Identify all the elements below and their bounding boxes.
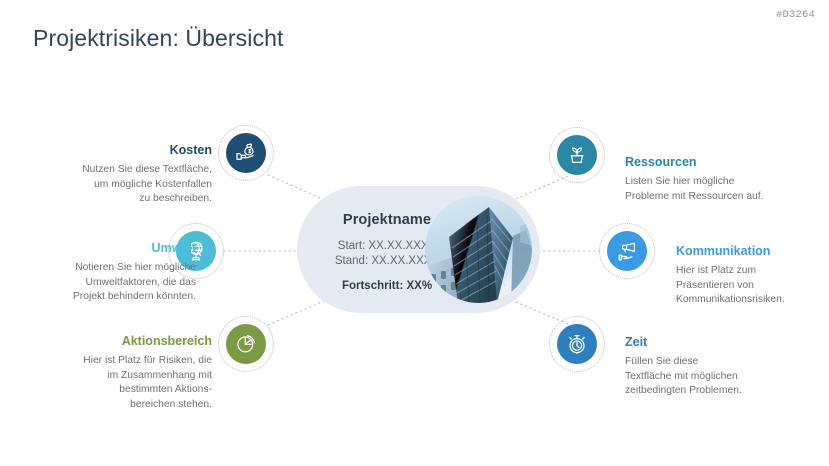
block-title-aktionsbereich: Aktionsbereich [62, 333, 212, 349]
node-kommunikation[interactable] [599, 223, 655, 279]
node-ressourcen[interactable] [549, 127, 605, 183]
stopwatch-icon [557, 324, 597, 364]
block-title-umwelt: Umwelt [20, 240, 196, 256]
block-title-kommunikation: Kommunikation [676, 243, 829, 259]
megaphone-in-hand-icon [607, 231, 647, 271]
money-bag-in-hand-icon [226, 133, 266, 173]
block-body-umwelt: Notieren Sie hier mögliche Umweltfaktore… [20, 261, 196, 305]
block-ressourcen: Ressourcen Listen Sie hier mögliche Prob… [625, 154, 815, 204]
node-aktionsbereich[interactable] [218, 316, 274, 372]
slide-canvas: Projektrisiken: Übersicht #D3264 Projekt… [0, 0, 829, 466]
block-title-ressourcen: Ressourcen [625, 154, 815, 170]
block-body-kommunikation: Hier ist Platz zum Präsentieren von Komm… [676, 264, 829, 308]
block-body-aktionsbereich: Hier ist Platz für Risiken, die im Zusam… [62, 354, 212, 412]
block-umwelt: Umwelt Notieren Sie hier mögliche Umwelt… [20, 240, 196, 305]
potted-plant-icon [557, 135, 597, 175]
block-title-kosten: Kosten [36, 142, 212, 158]
block-kommunikation: Kommunikation Hier ist Platz zum Präsent… [676, 243, 829, 308]
project-summary-panel: Projektname Start: XX.XX.XXXX Stand: XX.… [297, 186, 540, 313]
page-title: Projektrisiken: Übersicht [33, 25, 283, 52]
block-kosten: Kosten Nutzen Sie diese Textfläche, um m… [36, 142, 212, 207]
block-title-zeit: Zeit [625, 334, 815, 350]
pie-chart-icon [226, 324, 266, 364]
block-zeit: Zeit Füllen Sie diese Textfläche mit mög… [625, 334, 815, 399]
block-body-kosten: Nutzen Sie diese Textfläche, um mögliche… [36, 163, 212, 207]
project-progress: Fortschritt: XX% [323, 280, 451, 292]
slide-id-label: #D3264 [776, 9, 815, 21]
block-body-zeit: Füllen Sie diese Textfläche mit mögliche… [625, 355, 815, 399]
building-photo [425, 196, 532, 303]
block-aktionsbereich: Aktionsbereich Hier ist Platz für Risike… [62, 333, 212, 412]
node-kosten[interactable] [218, 125, 274, 181]
node-zeit[interactable] [549, 316, 605, 372]
block-body-ressourcen: Listen Sie hier mögliche Probleme mit Re… [625, 175, 815, 204]
